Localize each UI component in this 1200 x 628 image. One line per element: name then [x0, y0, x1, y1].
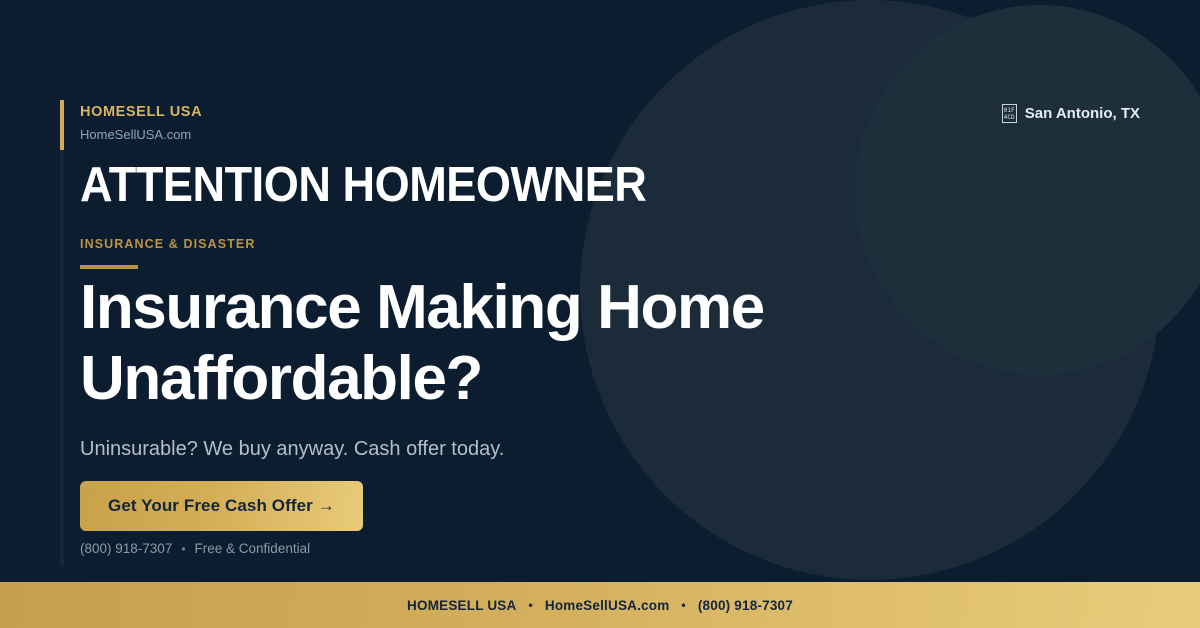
- footer-bar: HOMESELL USA • HomeSellUSA.com • (800) 9…: [0, 582, 1200, 628]
- location-badge: 01F 4CD San Antonio, TX: [1002, 104, 1140, 123]
- eyebrow-rule: [80, 265, 138, 269]
- content-area: HOMESELL USA HomeSellUSA.com 01F 4CD San…: [80, 0, 1200, 628]
- pin-icon: 01F 4CD: [1002, 104, 1017, 123]
- left-accent-rail-gold: [60, 100, 64, 150]
- footer-website[interactable]: HomeSellUSA.com: [545, 598, 670, 613]
- footer-phone[interactable]: (800) 918-7307: [698, 598, 793, 613]
- fineprint: (800) 918-7307 • Free & Confidential: [80, 541, 310, 557]
- brand-name: HOMESELL USA: [80, 105, 202, 121]
- left-accent-rail: [60, 100, 64, 566]
- subheadline: Uninsurable? We buy anyway. Cash offer t…: [80, 436, 504, 462]
- location-label: San Antonio, TX: [1025, 105, 1140, 122]
- page-title: Insurance Making Home Unaffordable?: [80, 272, 980, 415]
- cta-button[interactable]: Get Your Free Cash Offer →: [80, 481, 363, 531]
- brand-block: HOMESELL USA HomeSellUSA.com: [80, 105, 202, 142]
- fineprint-phone[interactable]: (800) 918-7307: [80, 541, 172, 557]
- eyebrow-block: INSURANCE & DISASTER: [80, 238, 256, 269]
- pin-icon-codepoint-top: 01F: [1004, 107, 1015, 114]
- kicker-heading: ATTENTION HOMEOWNER: [80, 160, 646, 211]
- brand-website: HomeSellUSA.com: [80, 128, 202, 142]
- fineprint-note: Free & Confidential: [195, 541, 311, 557]
- fineprint-separator: •: [181, 542, 185, 556]
- eyebrow-label: INSURANCE & DISASTER: [80, 238, 256, 252]
- footer-separator-1: •: [528, 598, 532, 612]
- ad-creative: HOMESELL USA HomeSellUSA.com 01F 4CD San…: [0, 0, 1200, 628]
- footer-separator-2: •: [681, 598, 685, 612]
- pin-icon-codepoint-bottom: 4CD: [1004, 114, 1015, 121]
- footer-brand: HOMESELL USA: [407, 598, 516, 613]
